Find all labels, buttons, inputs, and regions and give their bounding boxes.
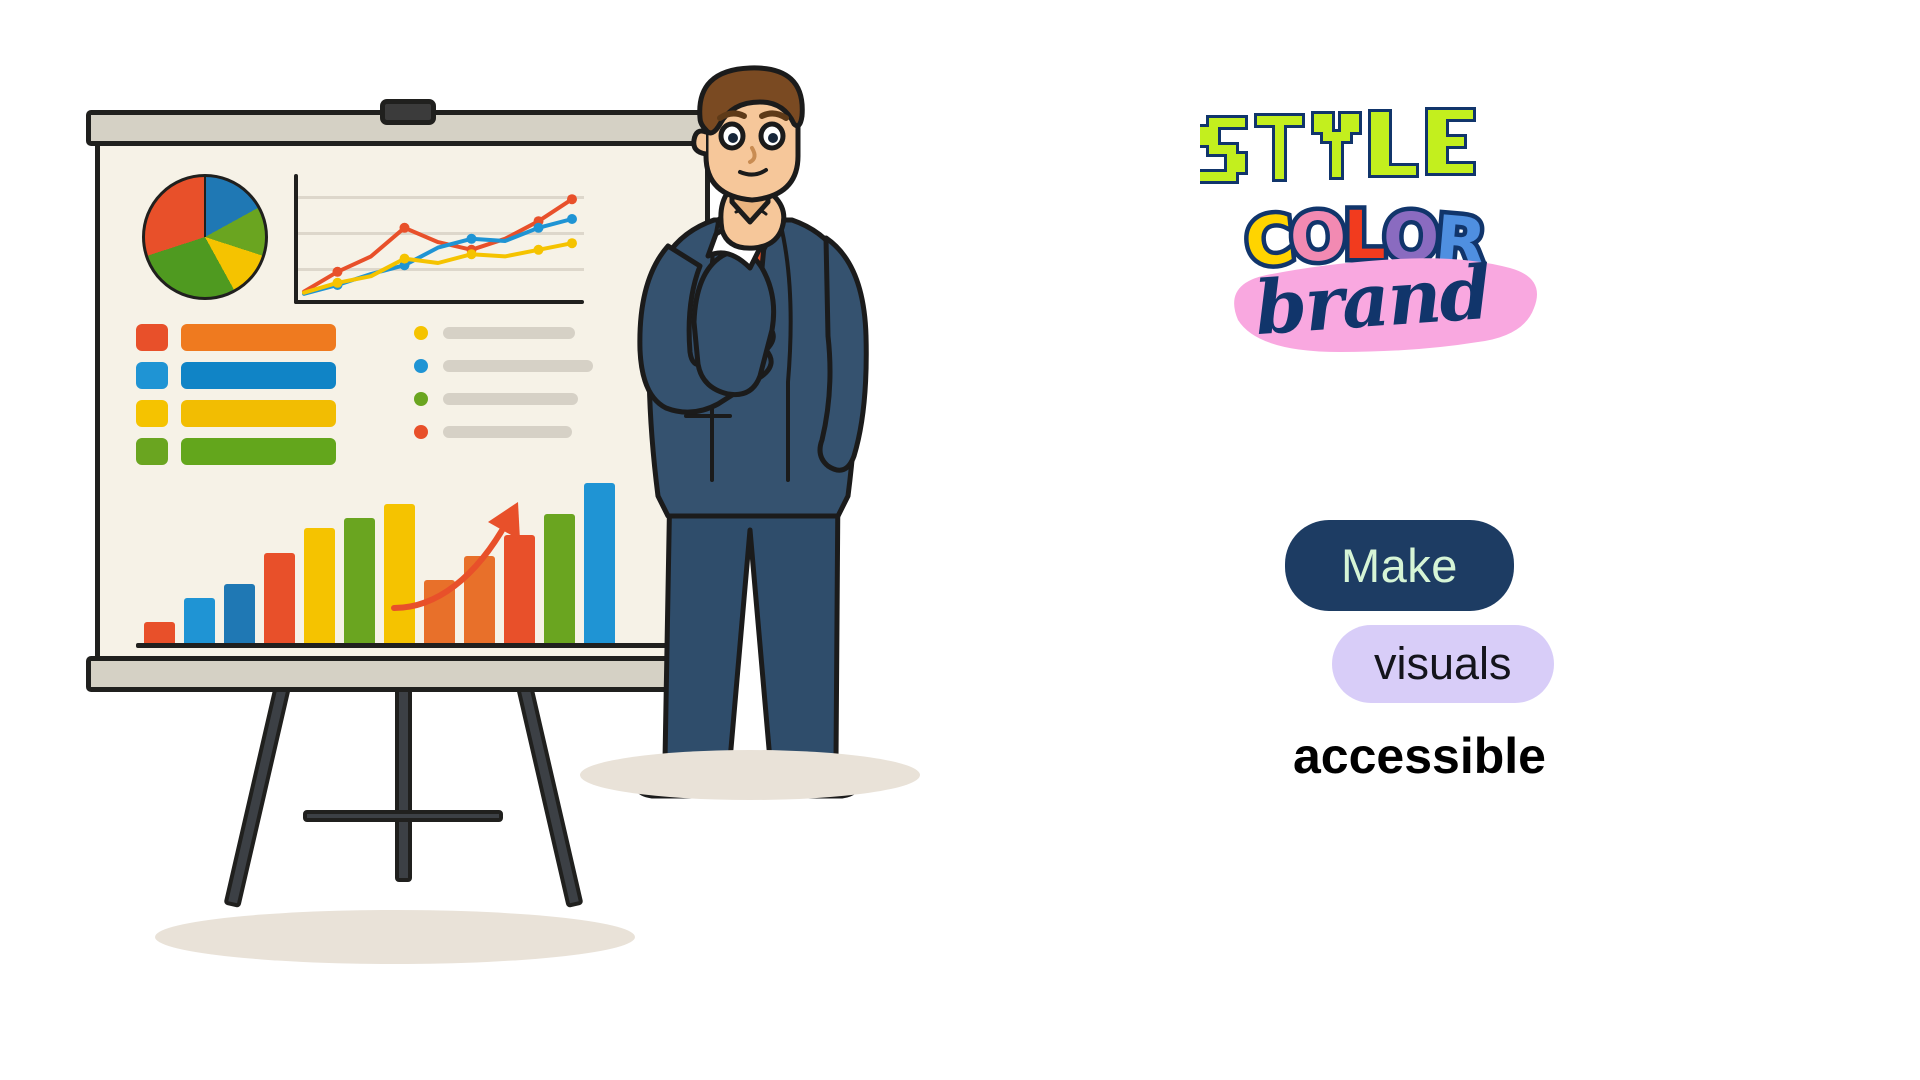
pie-chart [142,174,268,300]
easel-crossbar [303,810,503,822]
legend-dot [414,359,428,373]
legend-dot [414,326,428,340]
businessman-figure [590,60,930,820]
pie-divider [204,177,206,237]
legend-dot [414,425,428,439]
easel-leg-right [515,680,583,908]
bar [544,514,575,643]
bar [464,556,495,643]
bar [184,598,215,643]
bar [344,518,375,643]
line-chart [294,174,584,304]
legend-swatch [136,362,168,389]
easel-leg-left [223,680,291,908]
visuals-pill[interactable]: visuals [1332,625,1554,703]
legend-block-row [136,324,396,351]
businessman-thinking [590,60,930,820]
legend-placeholder-line [443,393,578,405]
board-knob [380,99,436,125]
legend-placeholder-line [443,327,575,339]
legend-dot [414,392,428,406]
bar [504,535,535,643]
legend-blocks [136,324,396,476]
style-color-brand-logo: COLOR brand [1200,100,1620,370]
cta-block: Make visuals accessible [1285,520,1665,785]
style-pixel-word [1200,100,1560,200]
legend-block-row [136,362,396,389]
easel-leg-center [395,682,412,882]
bar [264,553,295,643]
legend-placeholder-line [443,360,593,372]
bar [384,504,415,643]
line-chart-series [294,174,584,304]
slide-canvas: COLOR brand Make visuals accessible [0,0,1920,1080]
legend-placeholder-line [443,426,572,438]
brand-word: brand [1252,250,1492,352]
bar [304,528,335,643]
bar [424,580,455,643]
legend-bar [181,324,336,351]
bar [144,622,175,643]
legend-swatch [136,324,168,351]
legend-bar [181,400,336,427]
bar-chart-bars [144,463,615,643]
make-pill[interactable]: Make [1285,520,1514,611]
accessible-text: accessible [1293,727,1665,785]
legend-swatch [136,400,168,427]
legend-bar [181,362,336,389]
person-shadow [580,750,920,800]
legend-block-row [136,400,396,427]
bar [224,584,255,643]
easel-shadow [155,910,635,964]
